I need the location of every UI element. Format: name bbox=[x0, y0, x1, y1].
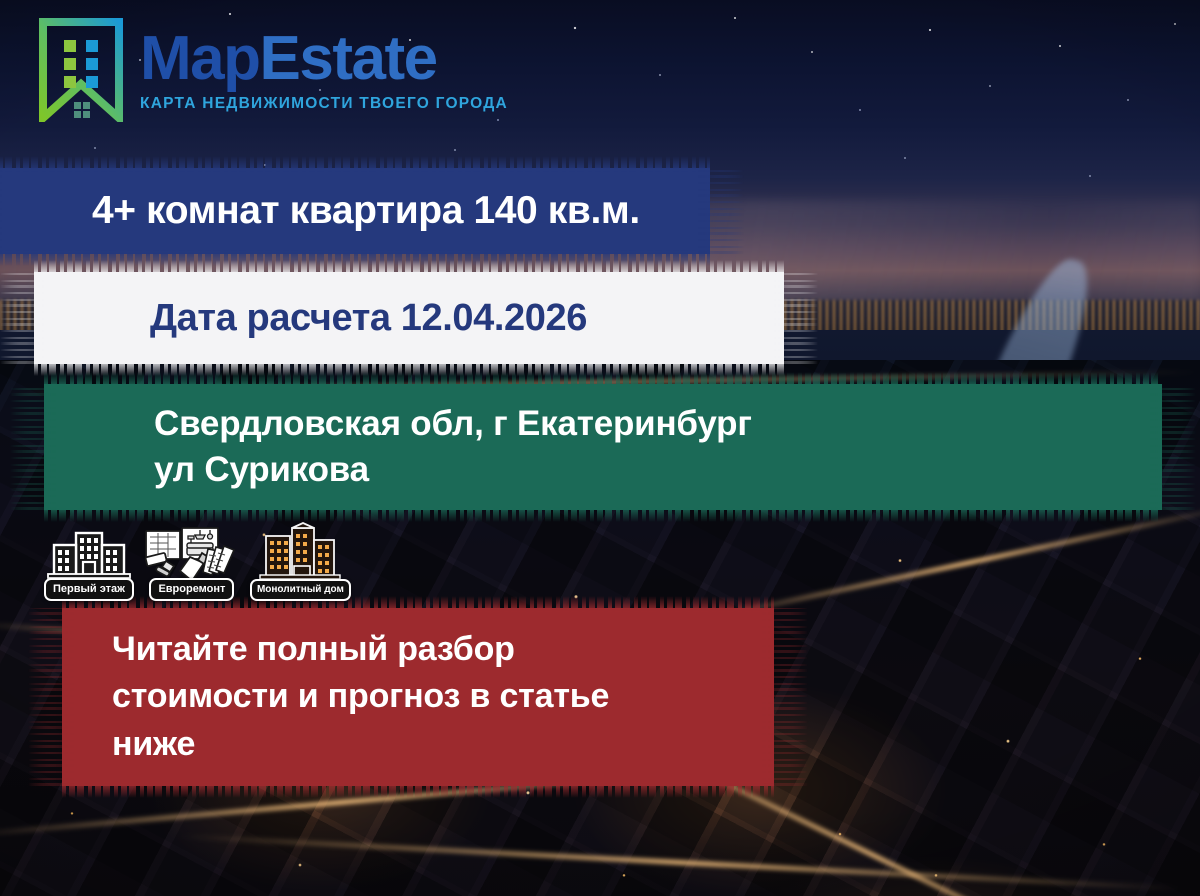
cta-text-wrap: Читайте полный разбор стоимости и прогно… bbox=[62, 626, 774, 769]
badge-first-floor[interactable]: Первый этаж bbox=[44, 529, 134, 601]
cta-line-2: стоимости и прогноз в статье bbox=[112, 673, 774, 721]
rooms-area-text: 4+ комнат квартира 140 кв.м. bbox=[92, 189, 710, 233]
cta-line-1: Читайте полный разбор bbox=[112, 626, 774, 674]
address-street: ул Сурикова bbox=[154, 447, 1162, 493]
rooms-area-banner: 4+ комнат квартира 140 кв.м. bbox=[0, 168, 710, 254]
brand-name: MapEstate bbox=[140, 28, 508, 90]
badge-renovation[interactable]: Евроремонт bbox=[142, 525, 242, 601]
brand-logo[interactable]: MapEstate КАРТА НЕДВИЖИМОСТИ ТВОЕГО ГОРО… bbox=[36, 18, 508, 122]
address-region-city: Свердловская обл, г Екатеринбург bbox=[154, 401, 1162, 447]
calculation-date-banner: Дата расчета 12.04.2026 bbox=[34, 272, 784, 364]
brand-name-part2: Estate bbox=[260, 24, 437, 93]
address-banner: Свердловская обл, г Екатеринбург ул Сури… bbox=[44, 384, 1162, 510]
feature-badges: Первый этаж bbox=[44, 522, 351, 601]
brand-name-part1: Map bbox=[140, 24, 260, 93]
badge-label: Первый этаж bbox=[44, 578, 134, 601]
cta-banner: Читайте полный разбор стоимости и прогно… bbox=[62, 608, 774, 786]
brush-fray-top bbox=[44, 372, 1162, 388]
brush-fray-bottom bbox=[44, 506, 1162, 522]
bookmark-building-icon bbox=[36, 18, 126, 122]
brand-tagline: КАРТА НЕДВИЖИМОСТИ ТВОЕГО ГОРОДА bbox=[140, 96, 508, 112]
cta-line-3: ниже bbox=[112, 721, 774, 769]
brand-wordmark: MapEstate КАРТА НЕДВИЖИМОСТИ ТВОЕГО ГОРО… bbox=[140, 28, 508, 112]
brush-fray-bottom bbox=[62, 782, 774, 798]
rooms-area-text-wrap: 4+ комнат квартира 140 кв.м. bbox=[0, 189, 710, 233]
badge-monolith[interactable]: Монолитный дом bbox=[250, 522, 351, 601]
calculation-date-text-wrap: Дата расчета 12.04.2026 bbox=[34, 297, 784, 340]
brush-fray-top bbox=[0, 156, 710, 172]
calculation-date-text: Дата расчета 12.04.2026 bbox=[150, 297, 784, 340]
property-promo-poster: MapEstate КАРТА НЕДВИЖИМОСТИ ТВОЕГО ГОРО… bbox=[0, 0, 1200, 896]
address-text-wrap: Свердловская обл, г Екатеринбург ул Сури… bbox=[44, 401, 1162, 493]
brush-fray-top bbox=[34, 260, 784, 276]
badge-label: Монолитный дом bbox=[250, 579, 351, 601]
badge-label: Евроремонт bbox=[149, 578, 234, 601]
